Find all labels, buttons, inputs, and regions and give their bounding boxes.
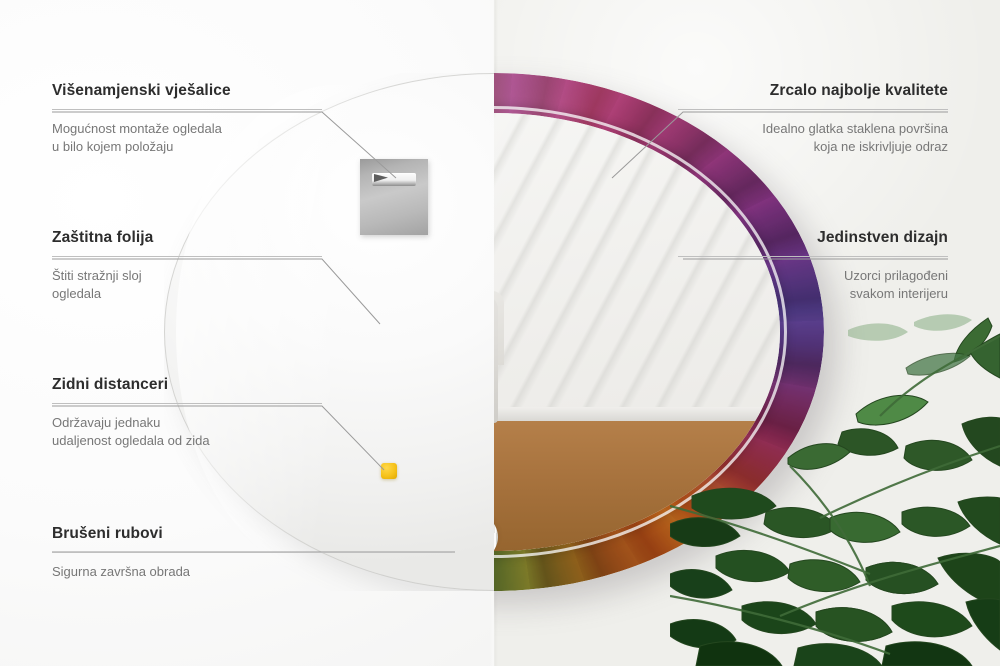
callout-protective-foil-description: Štiti stražnji sloj ogledala: [52, 267, 322, 304]
callout-wall-spacers: Zidni distanceri Održavaju jednaku udalj…: [52, 376, 322, 451]
callout-unique-design-rule: [678, 256, 948, 257]
callout-polished-edges-description: Sigurna završna obrada: [52, 563, 452, 581]
callout-best-quality-mirror-title: Zrcalo najbolje kvalitete: [678, 82, 948, 100]
callout-best-quality-mirror: Zrcalo najbolje kvalitete Idealno glatka…: [678, 82, 948, 157]
hanger-plate: [360, 159, 428, 235]
callout-protective-foil-rule: [52, 256, 322, 257]
callout-polished-edges-rule: [52, 552, 452, 553]
callout-protective-foil: Zaštitna folija Štiti stražnji sloj ogle…: [52, 229, 322, 304]
callout-unique-design-description: Uzorci prilagođeni svakom interijeru: [678, 267, 948, 304]
callout-wall-spacers-description: Održavaju jednaku udaljenost ogledala od…: [52, 414, 322, 451]
callout-polished-edges: Brušeni rubovi Sigurna završna obrada: [52, 525, 452, 581]
foliage-decoration: [670, 306, 1000, 666]
reflection-sofa: [494, 295, 498, 423]
callout-best-quality-mirror-rule: [678, 109, 948, 110]
wall-spacer: [381, 463, 397, 479]
callout-wall-spacers-rule: [52, 403, 322, 404]
callout-protective-foil-title: Zaštitna folija: [52, 229, 322, 247]
callout-unique-design-title: Jedinstven dizajn: [678, 229, 948, 247]
product-infographic: Višenamjenski vješalice Mogućnost montaž…: [0, 0, 1000, 666]
callout-wall-spacers-title: Zidni distanceri: [52, 376, 322, 394]
hanger-slot-icon: [372, 173, 416, 186]
callout-unique-design: Jedinstven dizajn Uzorci prilagođeni sva…: [678, 229, 948, 304]
callout-hangers-rule: [52, 109, 322, 110]
callout-hangers: Višenamjenski vješalice Mogućnost montaž…: [52, 82, 322, 157]
callout-best-quality-mirror-description: Idealno glatka staklena površina koja ne…: [678, 120, 948, 157]
callout-polished-edges-title: Brušeni rubovi: [52, 525, 452, 543]
callout-hangers-title: Višenamjenski vješalice: [52, 82, 322, 100]
callout-hangers-description: Mogućnost montaže ogledala u bilo kojem …: [52, 120, 322, 157]
